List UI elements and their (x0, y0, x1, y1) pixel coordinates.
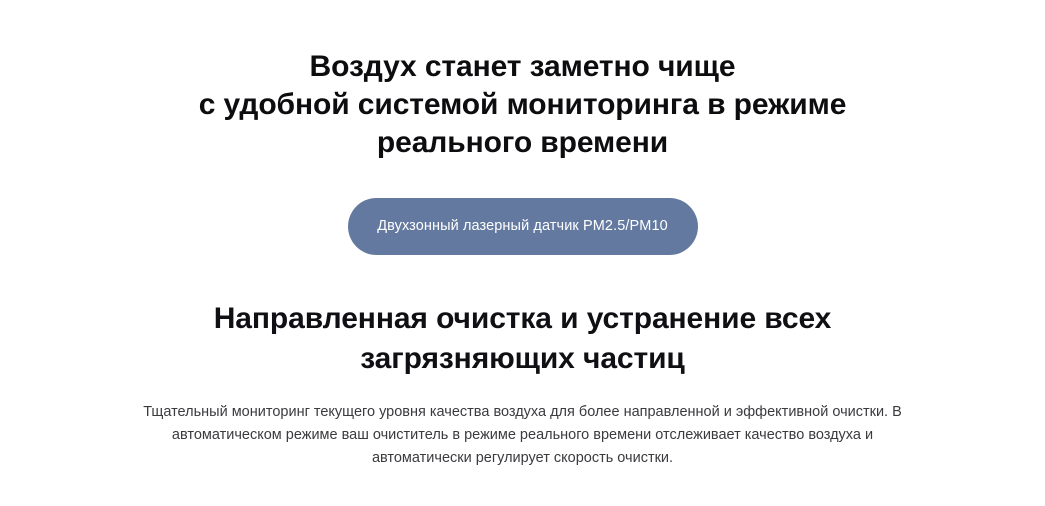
feature-heading: Направленная очистка и устранение всех з… (113, 299, 933, 379)
sensor-badge-row: Двухзонный лазерный датчик PM2.5/PM10 (0, 198, 1045, 255)
hero-heading: Воздух станет заметно чище с удобной сис… (143, 48, 903, 162)
sensor-badge-button[interactable]: Двухзонный лазерный датчик PM2.5/PM10 (348, 198, 698, 255)
hero-section: Воздух станет заметно чище с удобной сис… (0, 0, 1045, 255)
feature-section: Направленная очистка и устранение всех з… (0, 299, 1045, 470)
product-feature-page: Воздух станет заметно чище с удобной сис… (0, 0, 1045, 506)
feature-description: Тщательный мониторинг текущего уровня ка… (138, 401, 908, 470)
